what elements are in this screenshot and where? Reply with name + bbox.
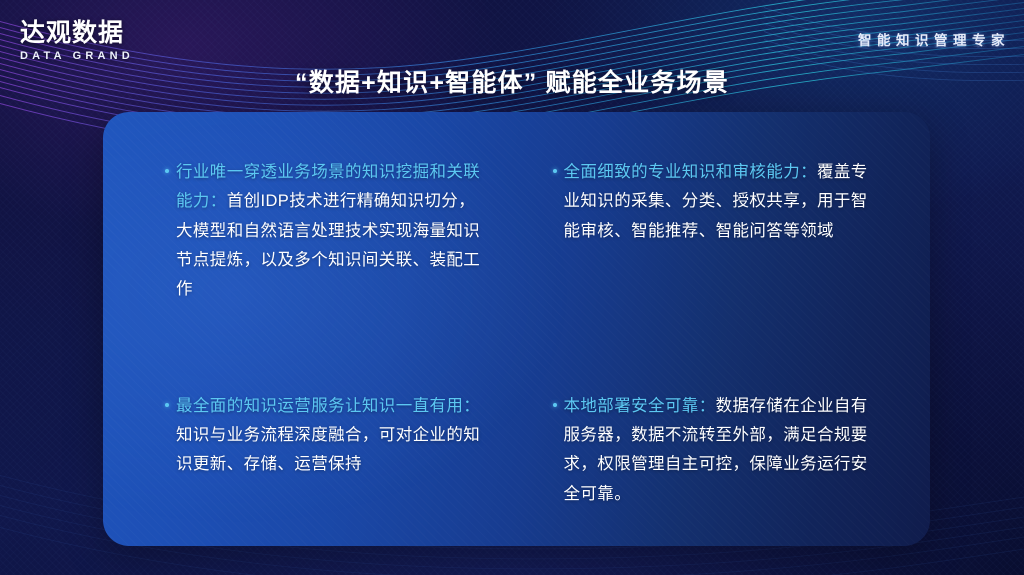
brand-logo-chinese: 达观数据 [20, 20, 134, 46]
list-item: 最全面的知识运营服务让知识一直有用：知识与业务流程深度融合，可对企业的知识更新、… [165, 392, 491, 546]
content-card: 行业唯一穿透业务场景的知识挖掘和关联能力：首创IDP技术进行精确知识切分，大模型… [103, 112, 930, 546]
bullet-text: 最全面的知识运营服务让知识一直有用：知识与业务流程深度融合，可对企业的知识更新、… [176, 392, 491, 480]
bullet-dot-icon [553, 403, 557, 407]
brand-logo-english: DATA GRAND [20, 50, 134, 62]
bullet-body: 知识与业务流程深度融合，可对企业的知识更新、存储、运营保持 [176, 426, 480, 473]
list-item: 全面细致的专业知识和审核能力：覆盖专业知识的采集、分类、授权共享，用于智能审核、… [553, 158, 879, 342]
bullet-dot-icon [165, 169, 169, 173]
list-item: 本地部署安全可靠：数据存储在企业自有服务器，数据不流转至外部，满足合规要求，权限… [553, 392, 879, 546]
list-item: 行业唯一穿透业务场景的知识挖掘和关联能力：首创IDP技术进行精确知识切分，大模型… [165, 158, 491, 342]
bullet-highlight: 全面细致的专业知识和审核能力： [564, 163, 818, 181]
bullet-text: 本地部署安全可靠：数据存储在企业自有服务器，数据不流转至外部，满足合规要求，权限… [564, 392, 879, 509]
bullet-highlight: 最全面的知识运营服务让知识一直有用： [176, 397, 480, 415]
bullet-grid: 行业唯一穿透业务场景的知识挖掘和关联能力：首创IDP技术进行精确知识切分，大模型… [103, 112, 930, 546]
bullet-text: 行业唯一穿透业务场景的知识挖掘和关联能力：首创IDP技术进行精确知识切分，大模型… [176, 158, 491, 305]
brand-tagline-reflection: 智能知识管理专家 [858, 39, 1010, 50]
brand-logo: 达观数据 DATA GRAND [20, 20, 134, 62]
page-title: “数据+知识+智能体” 赋能全业务场景 [0, 63, 1024, 99]
bullet-highlight: 本地部署安全可靠： [564, 397, 716, 415]
bullet-dot-icon [553, 169, 557, 173]
bullet-text: 全面细致的专业知识和审核能力：覆盖专业知识的采集、分类、授权共享，用于智能审核、… [564, 158, 879, 246]
bullet-dot-icon [165, 403, 169, 407]
slide-canvas: 达观数据 DATA GRAND 智能知识管理专家 智能知识管理专家 “数据+知识… [0, 0, 1024, 575]
